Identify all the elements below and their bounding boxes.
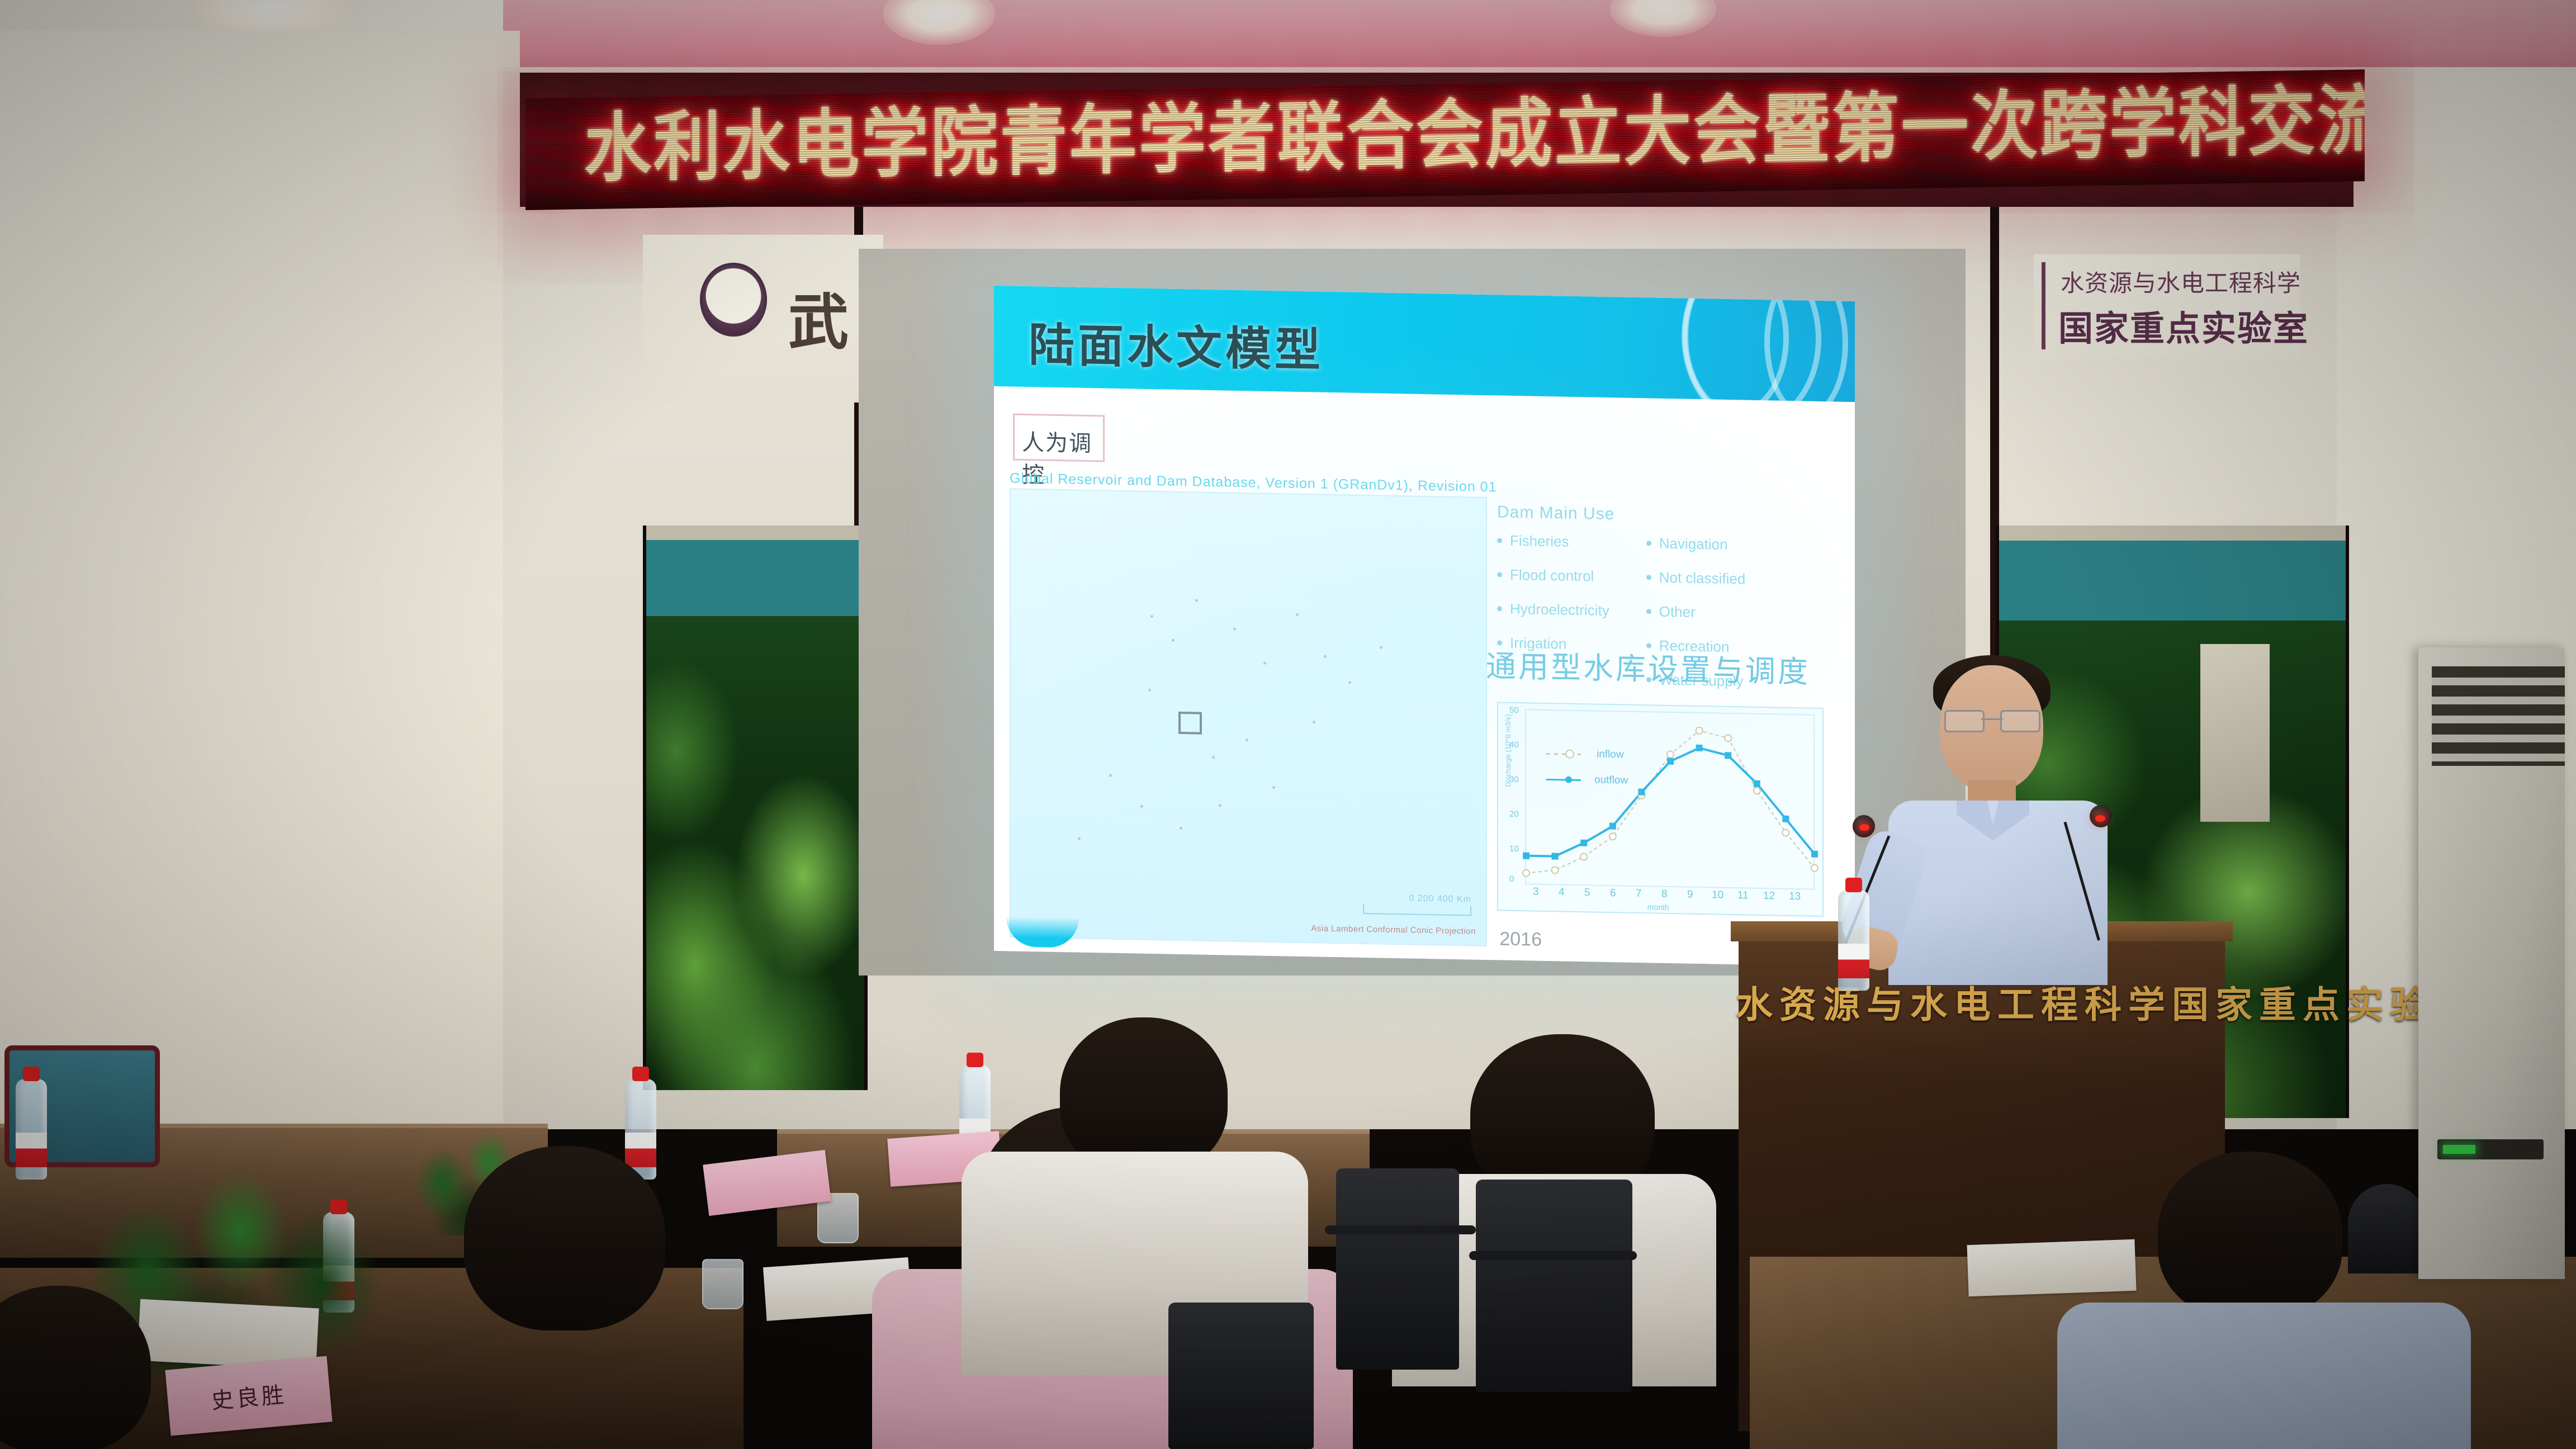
chart-data-point — [1667, 751, 1674, 757]
map-dam-point — [1172, 639, 1175, 642]
map-dam-point — [1246, 738, 1248, 741]
map-dam-point — [1296, 613, 1299, 616]
map-dam-point — [1109, 774, 1112, 777]
conference-room-scene: 水利水电学院青年学者联合会成立大会暨第一次跨学科交流论坛 武 水资源与水电工程科… — [0, 0, 2576, 1449]
map-dam-point — [1148, 689, 1151, 692]
legend-item: Other — [1646, 603, 1746, 622]
chart-series-svg — [1498, 703, 1822, 916]
chart-data-point — [1523, 870, 1529, 877]
legend-label: Not classified — [1659, 569, 1746, 588]
university-name-char: 武 — [788, 274, 849, 361]
map-dam-point — [1219, 804, 1221, 807]
water-bottle — [16, 1079, 47, 1180]
slide-decor-swirl-3 — [1764, 286, 1848, 402]
bottle-label — [1838, 944, 1869, 978]
chart-data-point — [1754, 787, 1760, 794]
wall-mural-left — [643, 525, 868, 1090]
map-dam-point — [1324, 655, 1327, 658]
slide-tag-box: 人为调控 — [1013, 414, 1105, 462]
inflow-marker-icon — [1565, 750, 1574, 759]
audience-body — [2057, 1303, 2471, 1449]
map-dam-point — [1180, 827, 1182, 830]
chart-data-point — [1725, 735, 1731, 741]
map-dam-point — [1348, 681, 1351, 684]
chart-data-point — [1552, 853, 1559, 860]
bottle-cap — [632, 1067, 649, 1081]
map-dam-point — [1380, 646, 1382, 649]
chart-legend: inflow outflow — [1546, 747, 1628, 801]
map-dam-point — [1140, 805, 1143, 808]
ac-power-led-icon — [2443, 1145, 2475, 1154]
legend-label: Flood control — [1510, 566, 1594, 585]
water-bottle — [1838, 890, 1869, 991]
chart-data-point — [1609, 833, 1616, 840]
ac-logo — [2437, 1050, 2441, 1064]
mural-building — [2200, 644, 2270, 822]
chair-right-side — [2348, 1184, 2426, 1273]
chart-data-point — [1609, 823, 1616, 830]
name-placard-text: 史良胜 — [210, 1376, 288, 1415]
legend-item: Flood control — [1497, 566, 1609, 585]
bottle-cap — [1845, 878, 1862, 892]
chair-front-3 — [1168, 1303, 1314, 1449]
legend-item: Not classified — [1646, 569, 1746, 588]
microphone-right — [2063, 799, 2152, 939]
inflow-line-swatch — [1546, 752, 1581, 755]
chart-data-point — [1638, 789, 1645, 795]
chair-front-2 — [1476, 1180, 1632, 1392]
reservoir-inflow-outflow-chart: Discharge (10^8 m3/s) month 50 40 30 20 … — [1497, 702, 1824, 917]
microphone-led-icon — [1859, 824, 1869, 831]
bottle-label — [16, 1133, 47, 1167]
audience-head — [1060, 1017, 1228, 1174]
china-dam-map: 0 200 400 Km Asia Lambert Conformal Coni… — [1010, 488, 1487, 946]
chair-front-1 — [1336, 1168, 1459, 1370]
ac-brand-label — [2437, 795, 2441, 808]
mural-roof-left — [646, 525, 864, 616]
legend-dot-icon — [1497, 538, 1502, 543]
chart-legend-label: outflow — [1594, 774, 1628, 787]
slide-footer-decor — [1006, 916, 1079, 948]
legend-label: Other — [1659, 603, 1696, 621]
slide-title: 陆面水文模型 — [1029, 307, 1324, 380]
legend-dot-icon — [1497, 572, 1502, 577]
chart-legend-item-inflow: inflow — [1546, 747, 1628, 761]
map-scale-bar — [1363, 904, 1471, 916]
lab-sign-line2: 国家重点实验室 — [2058, 300, 2309, 351]
chart-data-point — [1580, 840, 1587, 846]
legend-label: Navigation — [1659, 535, 1728, 553]
legend-item: Hydroelectricity — [1497, 600, 1609, 619]
audience-member-front-left — [414, 1146, 727, 1449]
map-dam-point — [1078, 837, 1081, 840]
chart-data-point — [1696, 727, 1703, 734]
map-scale-label: 0 200 400 Km — [1409, 893, 1471, 905]
chart-data-point — [1725, 752, 1731, 759]
bottle-cap — [967, 1053, 983, 1067]
chart-legend-label: inflow — [1597, 749, 1624, 761]
chart-data-point — [1667, 758, 1674, 765]
map-dam-point — [1150, 615, 1153, 618]
chair-armrest-2 — [1469, 1251, 1637, 1260]
slide-sub-heading: 通用型水库设置与调度 — [1486, 641, 1810, 692]
university-emblem-icon — [700, 263, 767, 337]
legend-label: Fisheries — [1510, 532, 1569, 551]
microphone-led-icon — [2095, 815, 2105, 822]
lab-sign-line1: 水资源与水电工程科学 — [2061, 264, 2301, 299]
lab-wall-sign: 水资源与水电工程科学 国家重点实验室 — [2034, 254, 2300, 358]
map-dam-point — [1212, 756, 1215, 759]
lab-sign-accent-bar — [2042, 262, 2045, 349]
presentation-slide: 陆面水文模型 人为调控 Global Reservoir and Dam Dat… — [994, 286, 1855, 967]
map-dam-point — [1313, 721, 1315, 723]
microphone-stem — [2063, 822, 2100, 941]
chart-legend-item-outflow: outflow — [1546, 773, 1628, 787]
audience-head — [0, 1286, 151, 1449]
map-highlight-box — [1178, 712, 1202, 735]
eyeglasses-icon — [1944, 710, 2040, 729]
map-dam-point — [1233, 628, 1236, 631]
audience-head — [464, 1146, 665, 1330]
map-dam-point — [1195, 599, 1198, 602]
legend-dot-icon — [1646, 609, 1651, 614]
chart-data-point — [1696, 745, 1703, 751]
legend-dot-icon — [1646, 541, 1651, 546]
map-dam-point — [1263, 662, 1266, 665]
legend-title: Dam Main Use — [1497, 503, 1816, 527]
map-projection-label: Asia Lambert Conformal Conic Projection — [1311, 924, 1476, 936]
chart-data-point — [1552, 866, 1559, 873]
ac-vent-grille — [2432, 666, 2565, 766]
mural-roof-right — [1999, 525, 2346, 621]
map-dam-point — [1272, 786, 1275, 789]
legend-item: Navigation — [1646, 534, 1746, 553]
outflow-marker-icon — [1565, 776, 1572, 783]
chair-armrest-1 — [1325, 1225, 1476, 1234]
slide-footer-date: 2016 — [1499, 928, 1542, 950]
air-conditioner — [2418, 647, 2565, 1279]
chart-data-point — [1580, 854, 1587, 860]
chart-data-point — [1782, 830, 1789, 836]
chart-data-point — [1782, 816, 1789, 822]
legend-dot-icon — [1497, 606, 1502, 611]
legend-item: Fisheries — [1497, 532, 1609, 551]
chart-data-point — [1523, 853, 1529, 859]
outflow-line-swatch — [1546, 778, 1581, 780]
legend-label: Hydroelectricity — [1510, 600, 1609, 619]
audience-member-bottom-left — [0, 1286, 201, 1449]
left-wall — [0, 31, 520, 1205]
chart-data-point — [1754, 780, 1760, 787]
legend-dot-icon — [1646, 575, 1651, 580]
bottle-cap — [23, 1067, 40, 1081]
audience-head — [2158, 1152, 2342, 1319]
